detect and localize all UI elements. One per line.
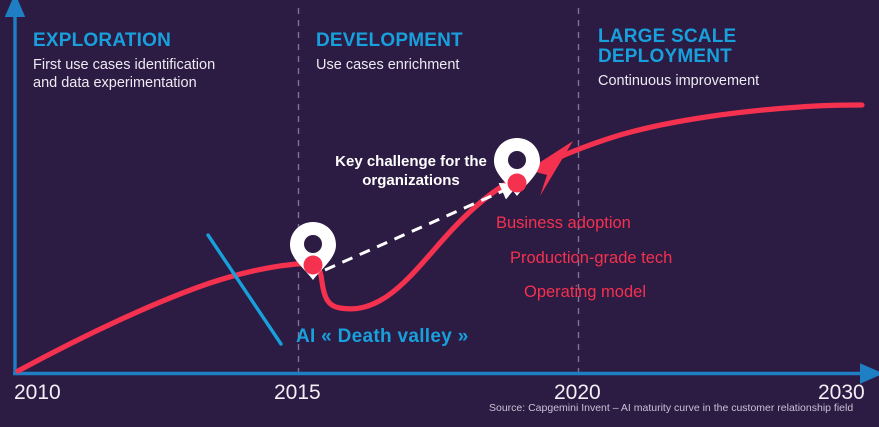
annotation-death-valley: AI « Death valley »	[296, 326, 469, 348]
curve-point-2019	[508, 174, 527, 193]
phase-subtitle-development: Use cases enrichment	[316, 56, 566, 75]
phase-block-exploration: EXPLORATION First use cases identificati…	[33, 31, 273, 93]
phase-title-large-scale-deployment: LARGE SCALE DEPLOYMENT	[598, 27, 848, 67]
death-valley-leader-line	[208, 235, 281, 344]
phase-block-development: DEVELOPMENT Use cases enrichment	[316, 31, 566, 74]
benefit-operating-model: Operating model	[524, 284, 696, 301]
curve-point-2015	[304, 256, 323, 275]
phase-subtitle-exploration: First use cases identification and data …	[33, 56, 273, 93]
phase-subtitle-large-scale-deployment: Continuous improvement	[598, 72, 848, 91]
x-axis-tick-2010: 2010	[14, 381, 61, 405]
benefit-production-grade-tech: Production-grade tech	[510, 250, 696, 267]
x-axis-tick-2015: 2015	[274, 381, 321, 405]
annotation-key-challenge: Key challenge for the organizations	[313, 153, 509, 191]
source-caption: Source: Capgemini Invent – AI maturity c…	[489, 402, 853, 414]
benefits-list: Business adoption Production-grade tech …	[496, 215, 696, 319]
ai-maturity-curve-infographic: EXPLORATION First use cases identificati…	[0, 0, 879, 427]
benefit-business-adoption: Business adoption	[496, 215, 696, 232]
phase-title-development: DEVELOPMENT	[316, 31, 566, 51]
phase-title-exploration: EXPLORATION	[33, 31, 273, 51]
phase-block-large-scale-deployment: LARGE SCALE DEPLOYMENT Continuous improv…	[598, 27, 848, 90]
